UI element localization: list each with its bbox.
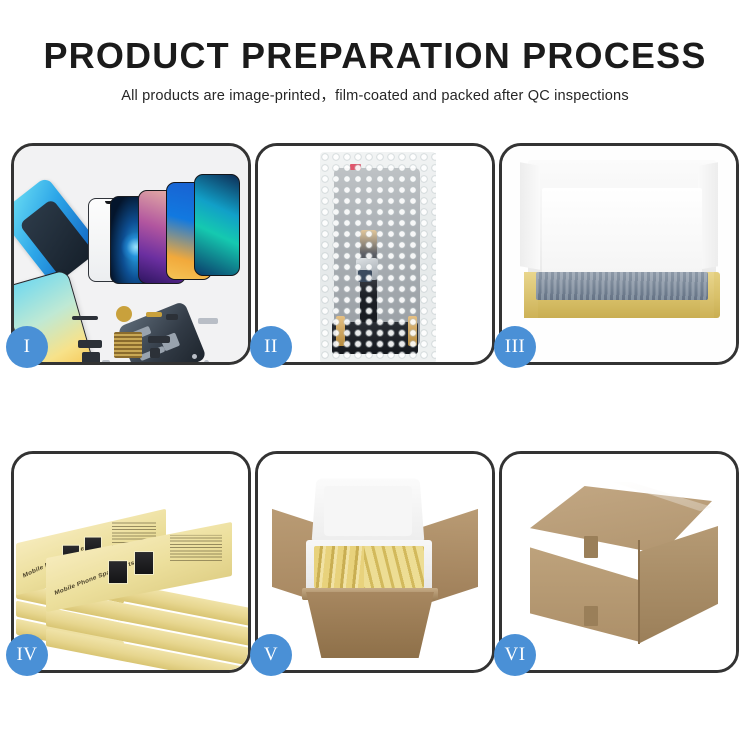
bubble-texture-icon bbox=[320, 152, 436, 362]
step-panel-2[interactable]: II bbox=[255, 143, 495, 365]
step-badge-4: IV bbox=[6, 634, 48, 676]
carton-vertical-edge-icon bbox=[638, 540, 640, 644]
part-screw-icon bbox=[192, 354, 197, 359]
part-ic-icon bbox=[150, 348, 160, 358]
grey-foam-padding-icon bbox=[536, 272, 708, 300]
box-window-phone-icon bbox=[108, 560, 128, 584]
part-speaker-coil-icon bbox=[116, 306, 132, 322]
part-flex-strip-icon bbox=[72, 316, 98, 320]
step-panel-4[interactable]: Mobile Phone Spare Parts Mobile Phone Sp… bbox=[11, 451, 251, 673]
foam-sheet-icon bbox=[542, 188, 702, 280]
step-badge-1: I bbox=[6, 326, 48, 368]
part-gold-connector-icon bbox=[146, 312, 162, 317]
box-spec-lines-icon bbox=[170, 535, 222, 561]
step-6-image bbox=[502, 454, 736, 670]
step-5-image bbox=[258, 454, 492, 670]
step-panel-3[interactable]: III bbox=[499, 143, 739, 365]
page-title: PRODUCT PREPARATION PROCESS bbox=[0, 0, 750, 76]
step-4-image: Mobile Phone Spare Parts Mobile Phone Sp… bbox=[14, 454, 248, 670]
box-window-phone-icon bbox=[134, 551, 154, 575]
process-steps-grid: I II bbox=[11, 143, 739, 673]
part-tool-icon bbox=[198, 318, 218, 324]
part-sim-tray-icon bbox=[102, 360, 110, 362]
spare-parts-flatlay bbox=[72, 298, 222, 362]
box-flap-left-icon bbox=[520, 162, 540, 270]
step-3-image bbox=[502, 146, 736, 362]
step-1-image bbox=[14, 146, 248, 362]
page-subtitle: All products are image-printed，film-coat… bbox=[0, 76, 750, 105]
step-badge-2: II bbox=[250, 326, 292, 368]
part-button-flex-icon bbox=[166, 314, 178, 320]
carton-seam-lower-icon bbox=[584, 606, 598, 626]
part-chip-grid-icon bbox=[114, 332, 142, 358]
retail-box-stack: Mobile Phone Spare Parts Mobile Phone Sp… bbox=[16, 482, 248, 662]
step-badge-3: III bbox=[494, 326, 536, 368]
step-2-image bbox=[258, 146, 492, 362]
step-panel-6[interactable]: VI bbox=[499, 451, 739, 673]
part-screw-icon bbox=[204, 360, 209, 362]
page-header: PRODUCT PREPARATION PROCESS All products… bbox=[0, 0, 750, 105]
part-connector-icon bbox=[78, 340, 102, 348]
part-module-icon bbox=[82, 352, 100, 362]
step-badge-5: V bbox=[250, 634, 292, 676]
phone-teal-swirl-icon bbox=[194, 174, 240, 276]
bubble-wrap-bag-icon bbox=[320, 152, 436, 362]
part-cable-icon bbox=[148, 336, 170, 343]
step-panel-5[interactable]: V bbox=[255, 451, 495, 673]
foam-lid-inner-icon bbox=[324, 486, 412, 536]
step-panel-1[interactable]: I bbox=[11, 143, 251, 365]
carton-body-icon bbox=[306, 592, 434, 658]
step-badge-6: VI bbox=[494, 634, 536, 676]
packed-yellow-boxes-icon bbox=[364, 546, 424, 588]
carton-seam-upper-icon bbox=[584, 536, 598, 558]
